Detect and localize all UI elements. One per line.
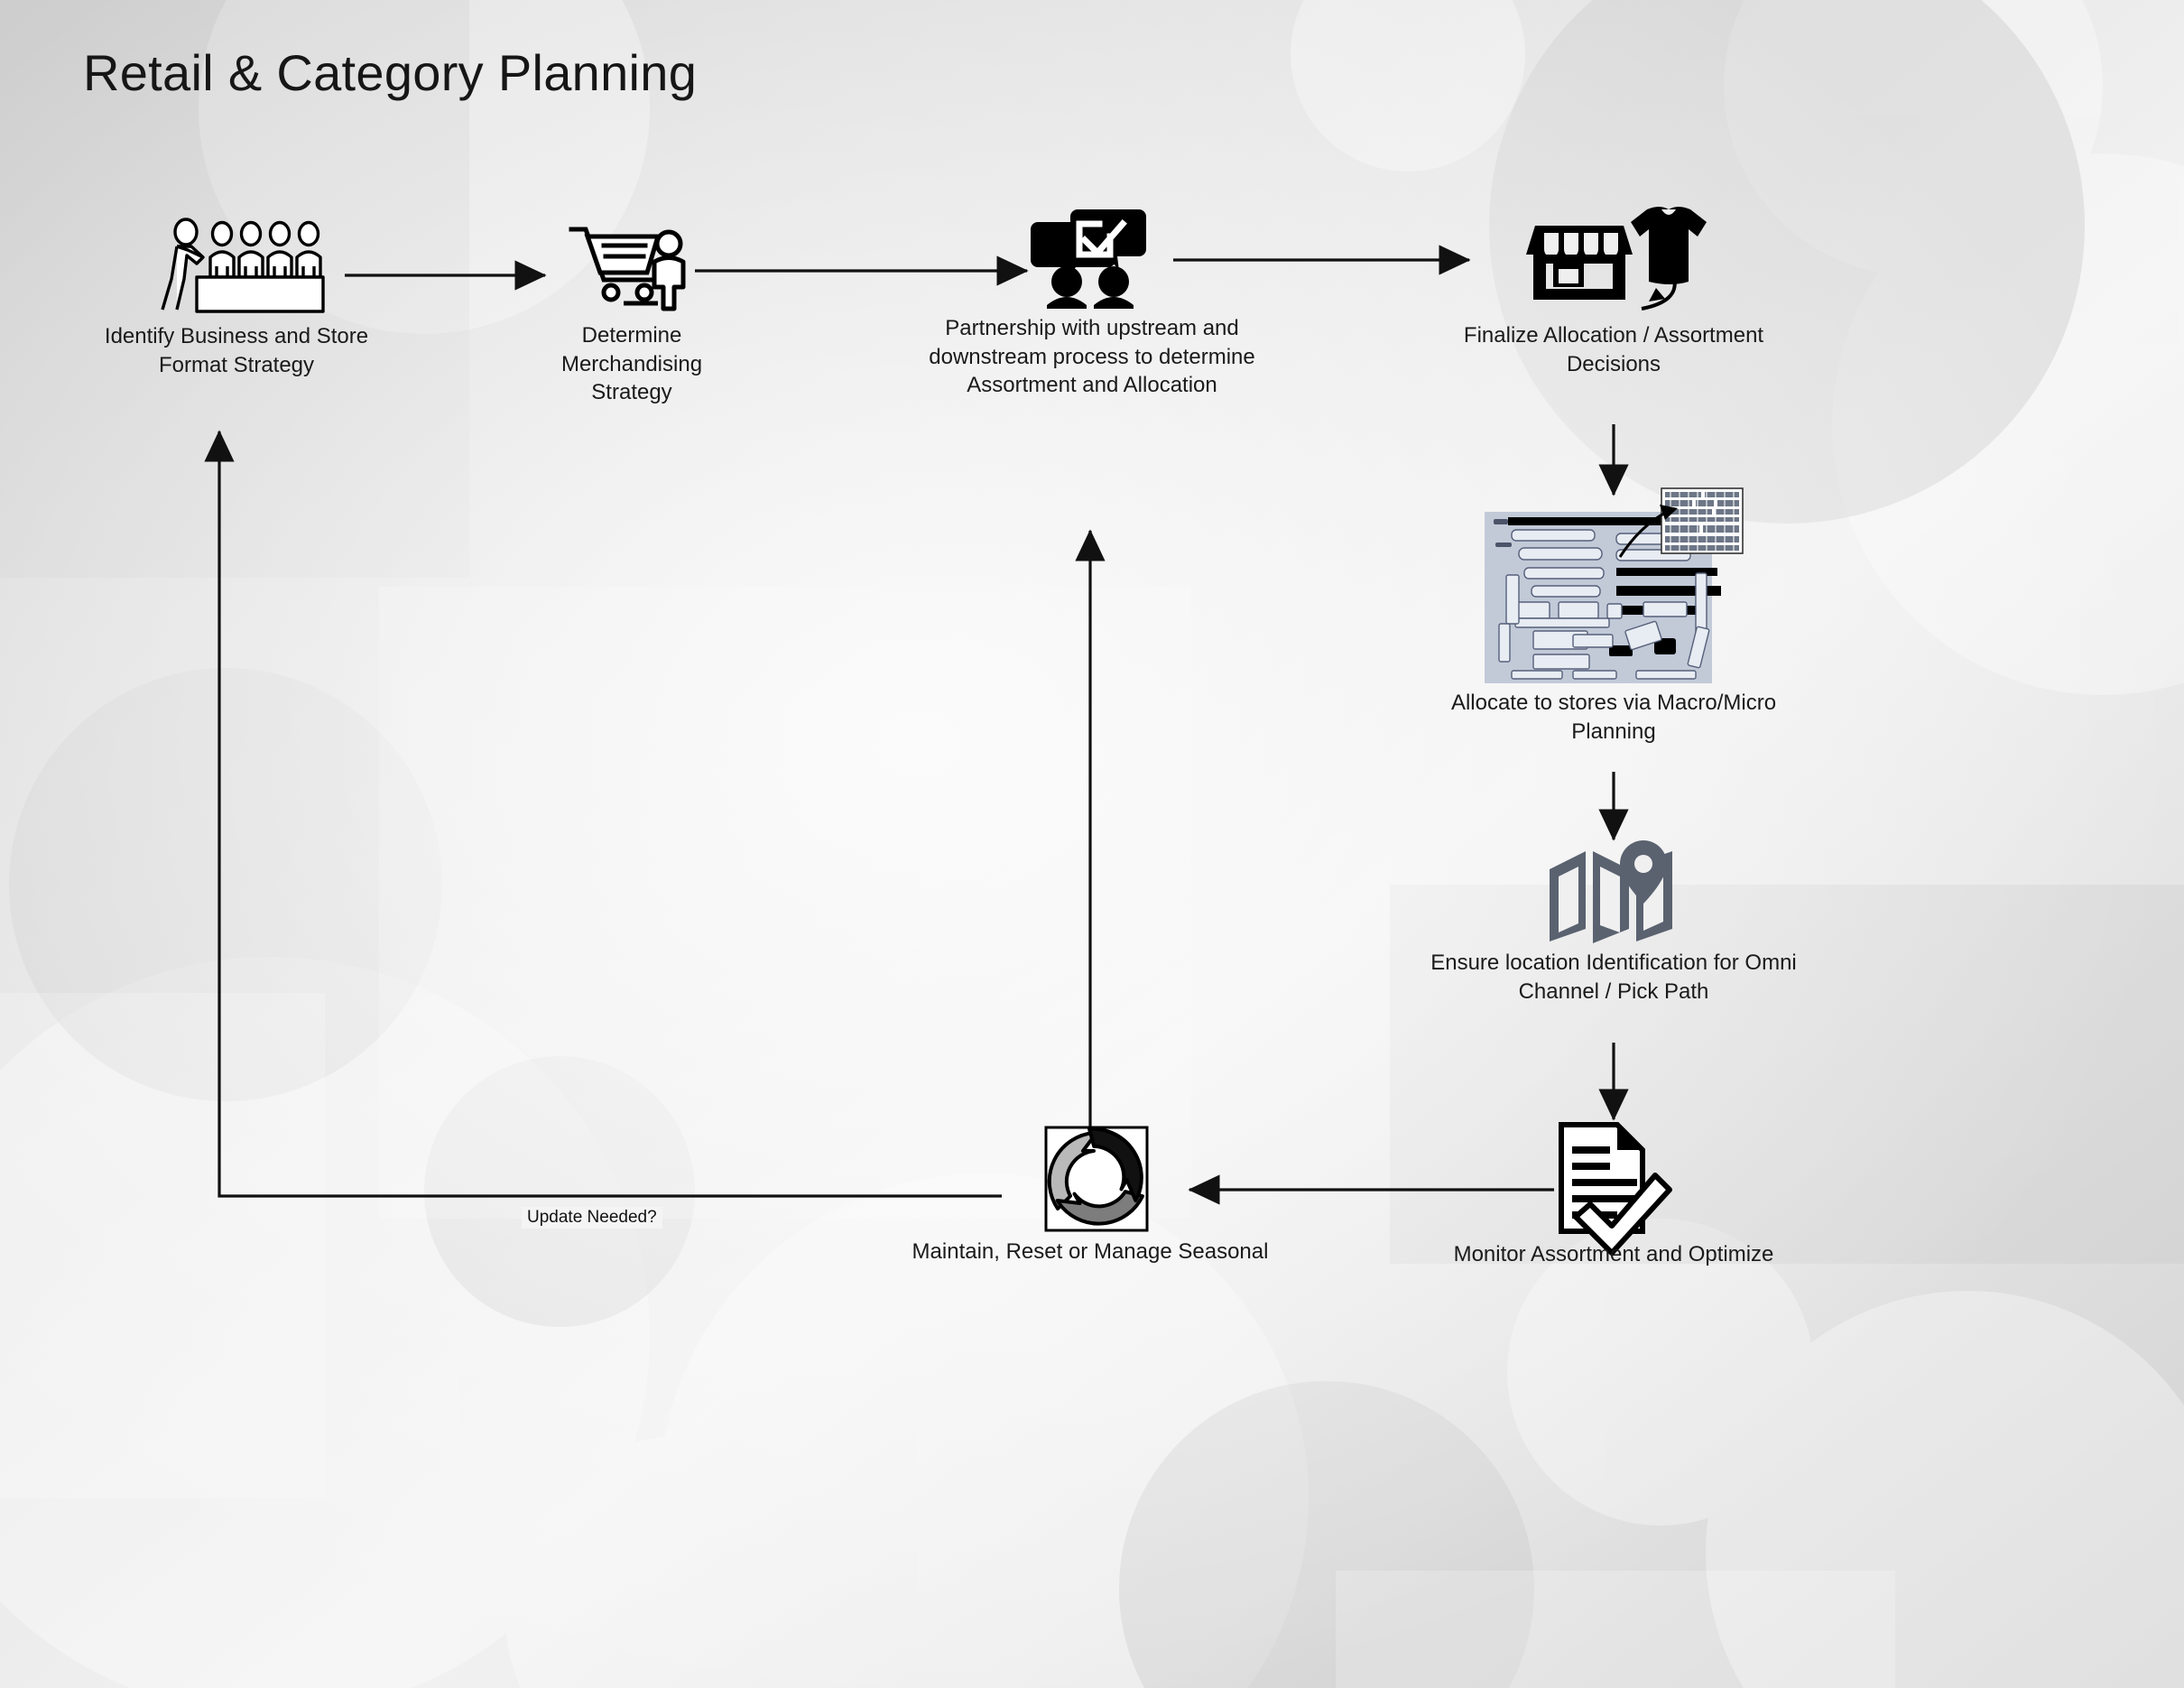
shopping-cart-shopper-icon — [532, 217, 731, 316]
node-label-allocate-stores-macro-micro: Allocate to stores via Macro/Micro Plann… — [1406, 689, 1821, 746]
node-allocate-stores-macro-micro[interactable]: Allocate to stores via Macro/Micro Plann… — [1406, 483, 1821, 746]
meeting-presentation-icon — [83, 213, 390, 317]
node-determine-merchandising-strategy[interactable]: Determine Merchandising Strategy — [532, 217, 731, 407]
node-label-monitor-assortment-optimize: Monitor Assortment and Optimize — [1415, 1240, 1812, 1269]
recycle-refresh-icon — [874, 1124, 1307, 1232]
node-maintain-reset-manage-seasonal[interactable]: Maintain, Reset or Manage Seasonal — [874, 1124, 1307, 1266]
node-label-maintain-reset-manage-seasonal: Maintain, Reset or Manage Seasonal — [874, 1238, 1307, 1266]
map-pin-icon — [1379, 835, 1848, 943]
edge-label-update-needed: Update Needed? — [522, 1207, 662, 1229]
storefront-garment-icon — [1424, 200, 1803, 316]
store-floorplan-planogram-icon — [1406, 483, 1821, 683]
node-label-partnership-upstream-downstream: Partnership with upstream and downstream… — [880, 314, 1304, 400]
node-ensure-location-identification[interactable]: Ensure location Identification for Omni … — [1379, 835, 1848, 1006]
node-partnership-upstream-downstream[interactable]: Partnership with upstream and downstream… — [880, 200, 1304, 400]
two-people-chat-check-icon — [880, 200, 1304, 309]
node-finalize-allocation-assortment[interactable]: Finalize Allocation / Assortment Decisio… — [1424, 200, 1803, 378]
node-label-identify-business-store-format: Identify Business and Store Format Strat… — [83, 322, 390, 379]
node-label-ensure-location-identification: Ensure location Identification for Omni … — [1379, 949, 1848, 1006]
document-check-icon — [1415, 1119, 1812, 1235]
node-label-finalize-allocation-assortment: Finalize Allocation / Assortment Decisio… — [1424, 321, 1803, 378]
node-label-determine-merchandising-strategy: Determine Merchandising Strategy — [532, 321, 731, 407]
node-identify-business-store-format[interactable]: Identify Business and Store Format Strat… — [83, 213, 390, 379]
edge-update-needed-loop — [219, 431, 1002, 1196]
node-monitor-assortment-optimize[interactable]: Monitor Assortment and Optimize — [1415, 1119, 1812, 1269]
